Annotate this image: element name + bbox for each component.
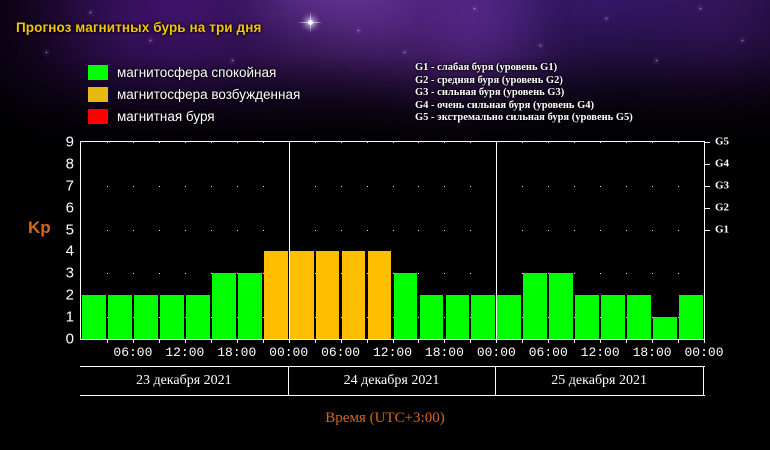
y-tick-label: 5 (66, 222, 74, 237)
x-tick (652, 339, 653, 343)
x-axis-title: Время (UTC+3:00) (0, 410, 770, 427)
g-tick (704, 164, 710, 165)
x-tick (237, 339, 238, 343)
x-tick (600, 339, 601, 343)
x-tick (574, 339, 575, 343)
plot-area (80, 141, 705, 340)
x-tick-label: 18:00 (217, 345, 256, 360)
y-tick-label: 9 (66, 135, 74, 150)
day-label-separator (288, 366, 289, 396)
x-tick-label: 18:00 (633, 345, 672, 360)
x-tick (367, 339, 368, 343)
x-tick (341, 339, 342, 343)
y-tick-label: 4 (66, 244, 74, 259)
x-tick (548, 339, 549, 343)
day-label-separator (703, 366, 704, 396)
x-tick (159, 339, 160, 343)
g-tick (704, 142, 710, 143)
y-tick-label: 3 (66, 266, 74, 281)
x-tick-label: 12:00 (165, 345, 204, 360)
day-label-cell: 24 декабря 2021 (288, 367, 496, 395)
x-tick (496, 339, 497, 343)
x-tick (185, 339, 186, 343)
y-tick-label: 8 (66, 156, 74, 171)
x-tick-label: 00:00 (684, 345, 723, 360)
g-tick (704, 230, 710, 231)
day-label-bar: 23 декабря 202124 декабря 202125 декабря… (80, 366, 705, 396)
y-tick-label: 7 (66, 178, 74, 193)
y-axis-label: Kp (28, 218, 51, 238)
day-label-cell: 23 декабря 2021 (80, 367, 288, 395)
y-tick-label: 6 (66, 200, 74, 215)
x-tick (211, 339, 212, 343)
day-label: 24 декабря 2021 (344, 373, 440, 389)
x-tick (444, 339, 445, 343)
day-divider (289, 142, 290, 339)
x-tick-label: 12:00 (581, 345, 620, 360)
g-tick-label: G1 (715, 224, 729, 235)
day-divider-lines (81, 142, 704, 339)
x-tick (418, 339, 419, 343)
kp-index-chart: 0123456789 Kp G1G2G3G4G5 06:0012:0018:00… (0, 0, 770, 450)
day-label: 25 декабря 2021 (551, 373, 647, 389)
day-label-separator (495, 366, 496, 396)
x-tick (626, 339, 627, 343)
x-tick (704, 339, 705, 343)
x-tick-label: 06:00 (529, 345, 568, 360)
g-tick-label: G5 (715, 137, 729, 148)
x-tick (470, 339, 471, 343)
y-tick-label: 0 (66, 332, 74, 347)
x-tick (133, 339, 134, 343)
x-tick (315, 339, 316, 343)
day-label-cell: 25 декабря 2021 (495, 367, 703, 395)
y-tick-label: 2 (66, 288, 74, 303)
x-tick-label: 00:00 (477, 345, 516, 360)
x-tick (393, 339, 394, 343)
g-tick-label: G4 (715, 158, 729, 169)
x-tick (289, 339, 290, 343)
x-tick-label: 18:00 (425, 345, 464, 360)
day-divider (496, 142, 497, 339)
x-tick-label: 06:00 (113, 345, 152, 360)
g-tick (704, 186, 710, 187)
y-tick-label: 1 (66, 310, 74, 325)
x-tick (678, 339, 679, 343)
g-tick-label: G2 (715, 202, 729, 213)
x-tick (522, 339, 523, 343)
day-label: 23 декабря 2021 (136, 373, 232, 389)
g-tick (704, 208, 710, 209)
x-tick-label: 06:00 (321, 345, 360, 360)
x-tick-label: 12:00 (373, 345, 412, 360)
x-tick-label: 00:00 (269, 345, 308, 360)
x-tick (107, 339, 108, 343)
x-tick (263, 339, 264, 343)
g-tick-label: G3 (715, 180, 729, 191)
